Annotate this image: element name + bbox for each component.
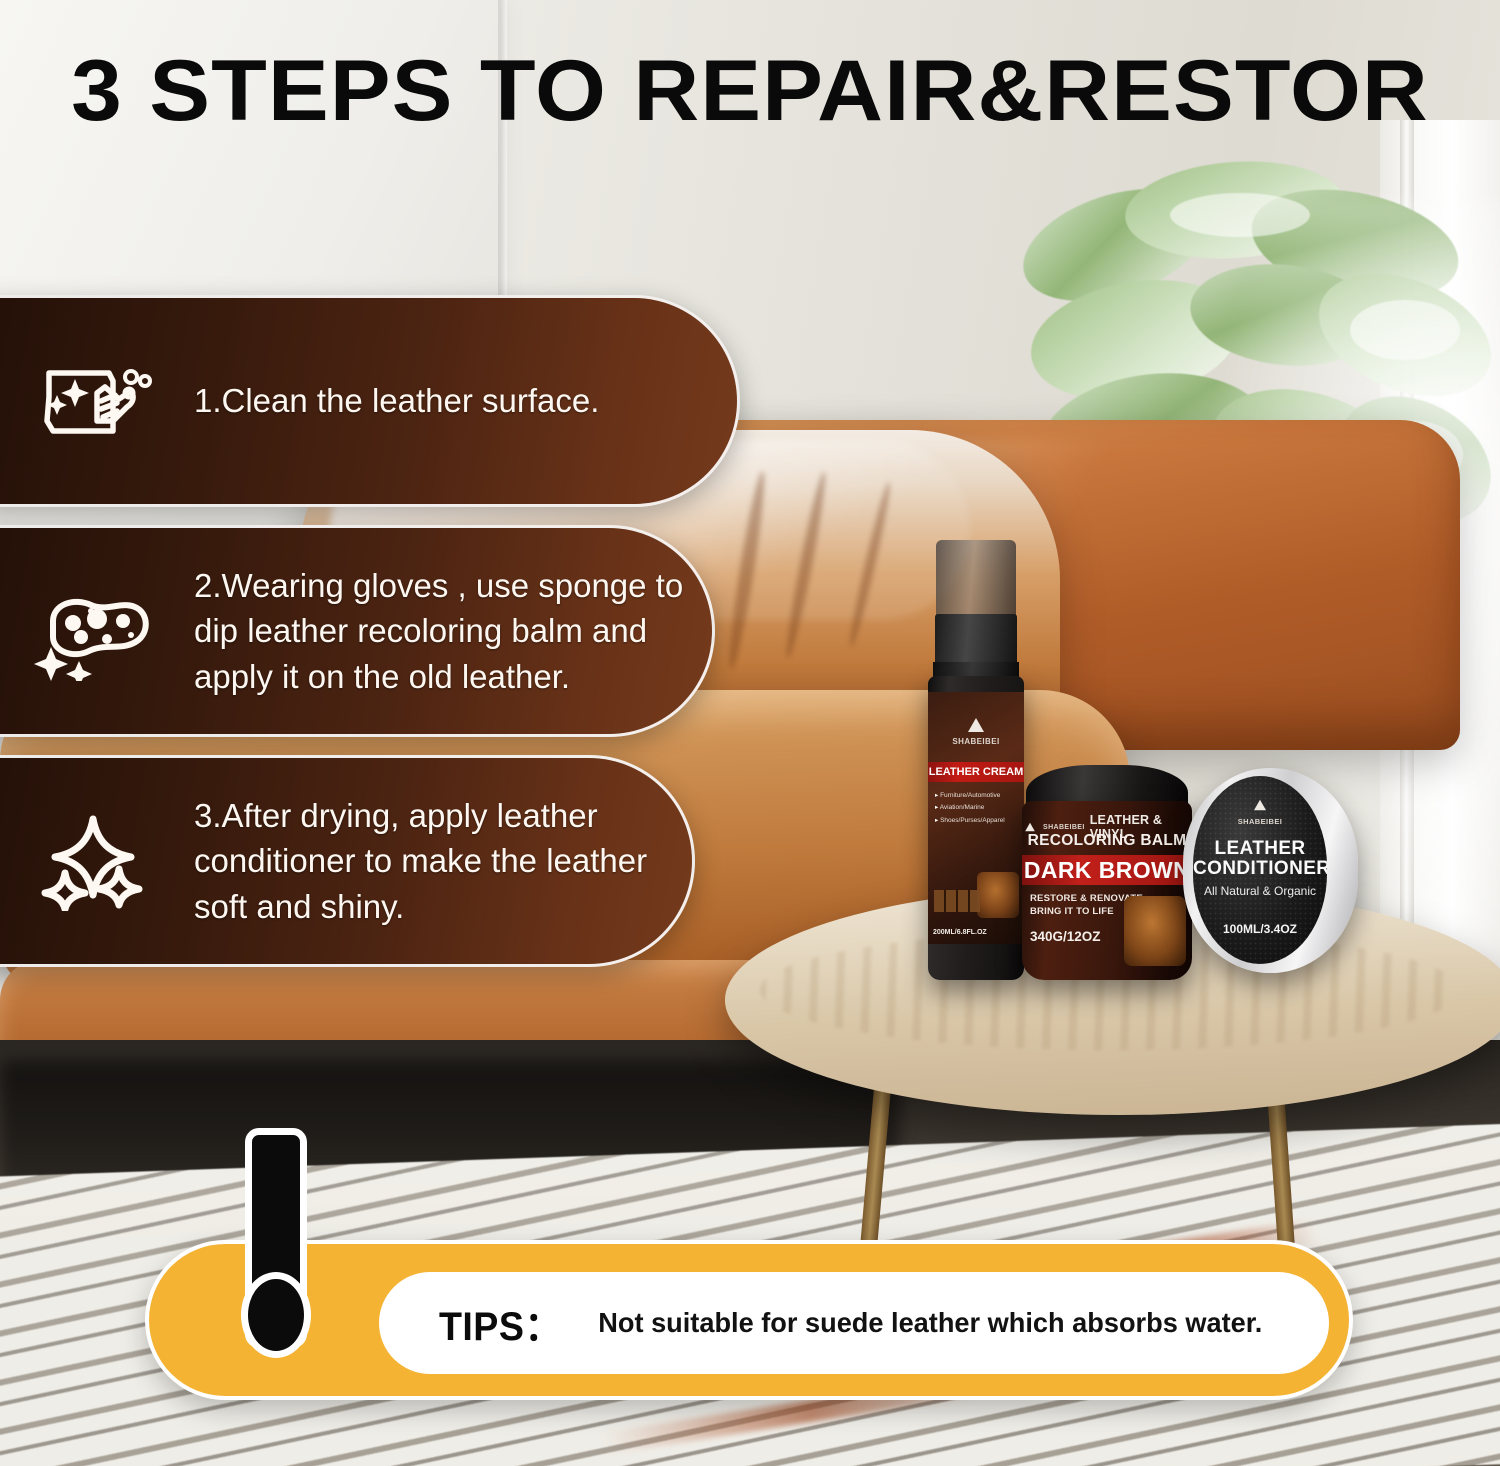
- jar-color-band: DARK BROWN: [1022, 855, 1192, 885]
- tin-label: SHABEIBEI LEATHER CONDITIONER All Natura…: [1193, 776, 1327, 964]
- tin-brand: SHABEIBEI: [1193, 798, 1327, 826]
- tin-brand-name: SHABEIBEI: [1193, 817, 1327, 826]
- bottle-brand-name: SHABEIBEI: [928, 737, 1024, 746]
- product-group: SHABEIBEI LEATHER CREAM Furniture/Automo…: [900, 540, 1420, 990]
- leather-cream-bottle: SHABEIBEI LEATHER CREAM Furniture/Automo…: [918, 540, 1033, 980]
- tin-name-line-2: CONDITIONER: [1193, 858, 1327, 880]
- cleaning-cloth-icon: [30, 351, 160, 451]
- step-panel-1: 1.Clean the leather surface.: [0, 295, 740, 507]
- jar-color-name: DARK BROWN: [1024, 857, 1190, 884]
- bottle-pump-collar: [935, 614, 1017, 668]
- leather-conditioner-tin: SHABEIBEI LEATHER CONDITIONER All Natura…: [1183, 768, 1358, 973]
- bottle-body: SHABEIBEI LEATHER CREAM Furniture/Automo…: [928, 676, 1024, 980]
- jar-chair-image: [1124, 896, 1186, 966]
- bottle-product-name: LEATHER CREAM: [929, 766, 1024, 778]
- tips-text: Not suitable for suede leather which abs…: [599, 1307, 1263, 1339]
- exclamation-icon-dot: [241, 1272, 311, 1358]
- step-panel-3: 3.After drying, apply leather conditione…: [0, 755, 695, 967]
- step-2-text: 2.Wearing gloves , use sponge to dip lea…: [194, 563, 712, 700]
- bottle-chair-image: [977, 872, 1019, 918]
- jar-body: SHABEIBEI LEATHER & VINYL RECOLORING BAL…: [1022, 801, 1192, 980]
- bottle-cap: [936, 540, 1016, 618]
- step-panel-2: 2.Wearing gloves , use sponge to dip lea…: [0, 525, 715, 737]
- page-title: 3 STEPS TO REPAIR&RESTOR: [0, 42, 1500, 141]
- bottle-brand: SHABEIBEI: [928, 718, 1024, 746]
- bottle-size: 200ML/6.8FL.OZ: [933, 929, 987, 936]
- tips-label: TIPS：: [439, 1294, 563, 1352]
- tin-size: 100ML/3.4OZ: [1193, 922, 1327, 936]
- infographic-page: 3 STEPS TO REPAIR&RESTOR: [0, 0, 1500, 1466]
- tips-banner: TIPS： Not suitable for suede leather whi…: [145, 1240, 1353, 1400]
- step-1-text: 1.Clean the leather surface.: [194, 378, 625, 424]
- brand-logo-icon: [1254, 800, 1266, 811]
- recoloring-balm-jar: SHABEIBEI LEATHER & VINYL RECOLORING BAL…: [1022, 765, 1192, 980]
- sparkle-icon: [30, 811, 160, 911]
- jar-line2: RECOLORING BALM: [1022, 832, 1192, 850]
- bottle-bullet: Shoes/Purses/Apparel: [935, 815, 1005, 827]
- bottle-bullet-list: Furniture/Automotive Aviation/Marine Sho…: [935, 790, 1005, 827]
- tin-subtitle: All Natural & Organic: [1193, 884, 1327, 898]
- tin-name-line-1: LEATHER: [1193, 838, 1327, 860]
- bottle-photo-strip: [934, 890, 980, 912]
- bottle-name-band: LEATHER CREAM: [928, 762, 1024, 782]
- sponge-icon: [30, 581, 160, 681]
- bottle-label: SHABEIBEI LEATHER CREAM Furniture/Automo…: [928, 692, 1024, 944]
- brand-logo-icon: [968, 718, 984, 732]
- bottle-bullet: Furniture/Automotive: [935, 790, 1005, 802]
- step-3-text: 3.After drying, apply leather conditione…: [194, 793, 692, 930]
- jar-brand-name: SHABEIBEI: [1043, 824, 1085, 831]
- jar-size: 340G/12OZ: [1030, 929, 1101, 944]
- tips-inner-pill: TIPS： Not suitable for suede leather whi…: [379, 1272, 1329, 1374]
- bottle-bullet: Aviation/Marine: [935, 802, 1005, 814]
- brand-logo-icon: [1025, 823, 1035, 831]
